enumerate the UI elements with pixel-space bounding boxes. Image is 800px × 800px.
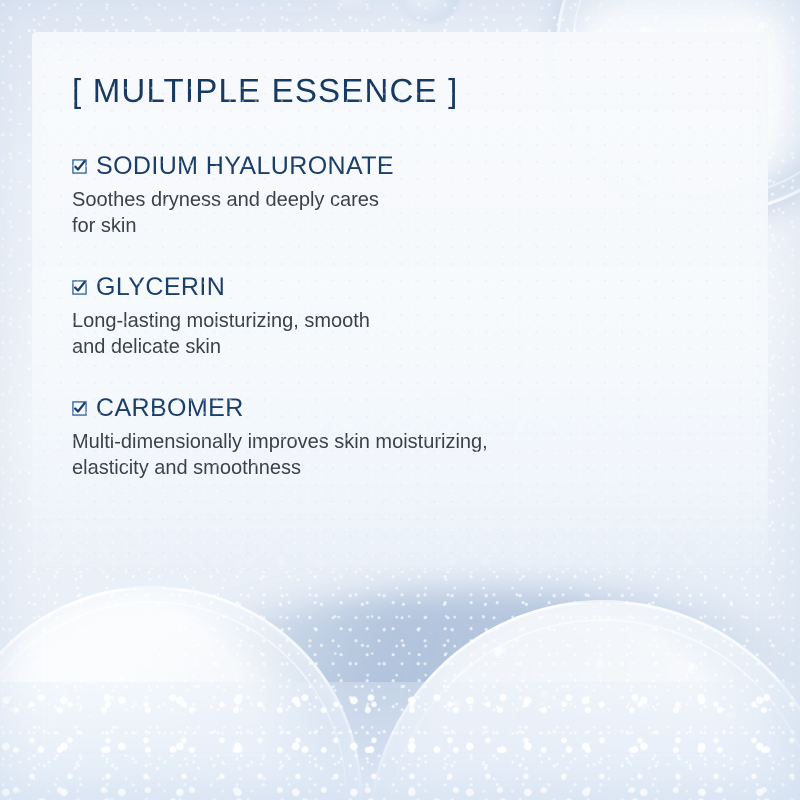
ingredient-list: SODIUM HYALURONATE Soothes dryness and d… (72, 153, 734, 482)
gel-bubble-image (688, 664, 697, 673)
ingredient-description: Multi-dimensionally improves skin moistu… (72, 429, 692, 483)
gel-bubble-image (494, 646, 506, 658)
foam-bokeh-strip-image (0, 682, 800, 800)
ingredient-heading: SODIUM HYALURONATE (72, 153, 734, 181)
checkbox-checked-icon (72, 159, 87, 174)
list-item: SODIUM HYALURONATE Soothes dryness and d… (72, 153, 734, 240)
ingredient-heading: GLYCERIN (72, 274, 734, 302)
ingredient-description: Soothes dryness and deeply cares for ski… (72, 187, 692, 241)
gel-bubble-image (758, 22, 768, 32)
gel-droplet-top-center-image (398, 0, 460, 24)
ingredient-heading: CARBOMER (72, 395, 734, 423)
checkbox-checked-icon (72, 280, 87, 295)
ingredient-name: GLYCERIN (96, 274, 225, 302)
list-item: GLYCERIN Long-lasting moisturizing, smoo… (72, 274, 734, 361)
ingredient-description: Long-lasting moisturizing, smooth and de… (72, 308, 692, 362)
product-infographic-stage: [ MULTIPLE ESSENCE ] SODIUM HYALURONATE … (0, 0, 800, 800)
content-panel: [ MULTIPLE ESSENCE ] SODIUM HYALURONATE … (32, 32, 768, 572)
ingredient-name: SODIUM HYALURONATE (96, 153, 394, 181)
ingredient-name: CARBOMER (96, 395, 244, 423)
gel-droplet-top-left-image (333, 0, 377, 14)
page-title: [ MULTIPLE ESSENCE ] (72, 72, 734, 110)
content-area: [ MULTIPLE ESSENCE ] SODIUM HYALURONATE … (32, 32, 768, 572)
checkbox-checked-icon (72, 401, 87, 416)
gel-bubble-image (596, 660, 604, 668)
list-item: CARBOMER Multi-dimensionally improves sk… (72, 395, 734, 482)
